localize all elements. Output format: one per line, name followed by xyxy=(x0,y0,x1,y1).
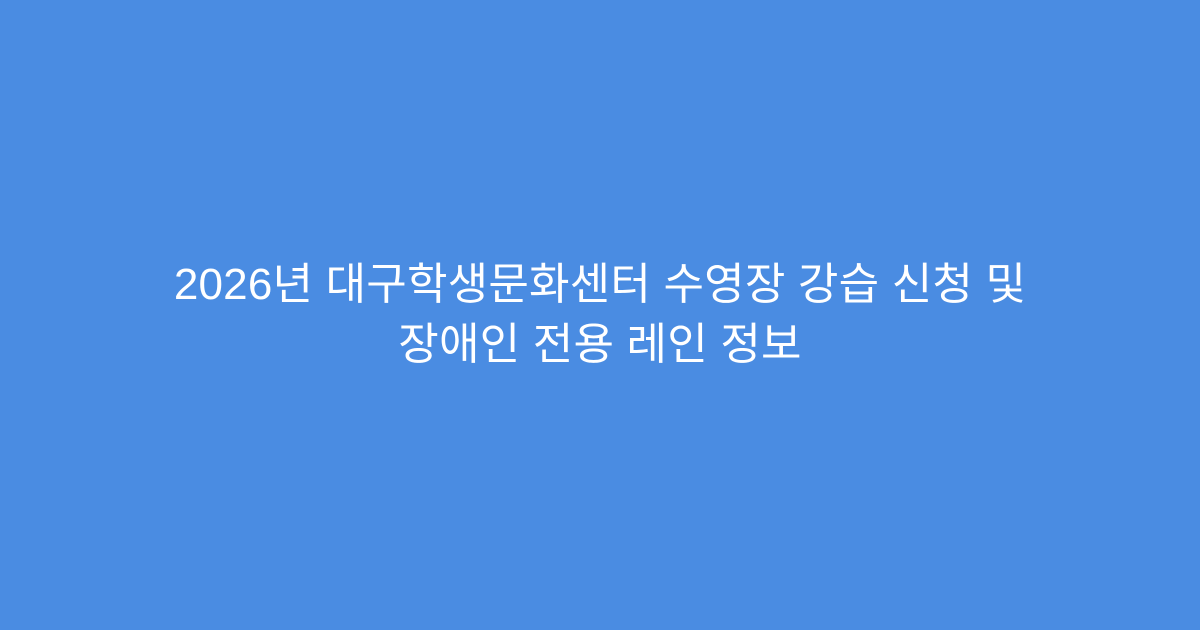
title-banner: 2026년 대구학생문화센터 수영장 강습 신청 및 장애인 전용 레인 정보 xyxy=(0,0,1200,630)
page-title: 2026년 대구학생문화센터 수영장 강습 신청 및 장애인 전용 레인 정보 xyxy=(80,255,1120,375)
banner-content: 2026년 대구학생문화센터 수영장 강습 신청 및 장애인 전용 레인 정보 xyxy=(80,255,1120,375)
